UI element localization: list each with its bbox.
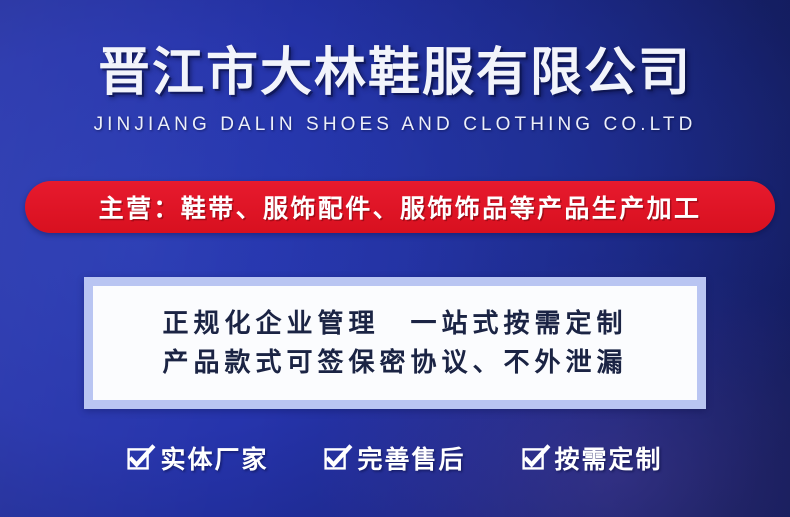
check-item-label-3: 按需定制 — [555, 440, 663, 476]
feature-box: 正规化企业管理 一站式按需定制 产品款式可签保密协议、不外泄漏 — [84, 277, 706, 409]
main-business-text: 主营：鞋带、服饰配件、服饰饰品等产品生产加工 — [99, 189, 702, 225]
check-items-row: 实体厂家 完善售后 按需定制 — [0, 440, 790, 476]
feature-line-2: 产品款式可签保密协议、不外泄漏 — [162, 346, 627, 379]
check-item-1: 实体厂家 — [127, 440, 268, 476]
checkbox-checked-icon — [127, 446, 151, 470]
company-name-cn: 晋江市大林鞋服有限公司 — [0, 44, 790, 102]
title-block: 晋江市大林鞋服有限公司 JINJIANG DALIN SHOES AND CLO… — [0, 44, 790, 136]
company-name-en: JINJIANG DALIN SHOES AND CLOTHING CO.LTD — [0, 114, 790, 136]
checkbox-checked-icon — [522, 446, 546, 470]
check-item-label-1: 实体厂家 — [160, 440, 268, 476]
promo-banner: 晋江市大林鞋服有限公司 JINJIANG DALIN SHOES AND CLO… — [0, 0, 790, 517]
feature-box-inner: 正规化企业管理 一站式按需定制 产品款式可签保密协议、不外泄漏 — [93, 286, 697, 400]
checkbox-checked-icon — [324, 446, 348, 470]
check-item-3: 按需定制 — [522, 440, 663, 476]
check-item-2: 完善售后 — [324, 440, 465, 476]
main-business-banner: 主营：鞋带、服饰配件、服饰饰品等产品生产加工 — [25, 181, 775, 233]
feature-line-1: 正规化企业管理 一站式按需定制 — [162, 307, 627, 340]
check-item-label-2: 完善售后 — [357, 440, 465, 476]
